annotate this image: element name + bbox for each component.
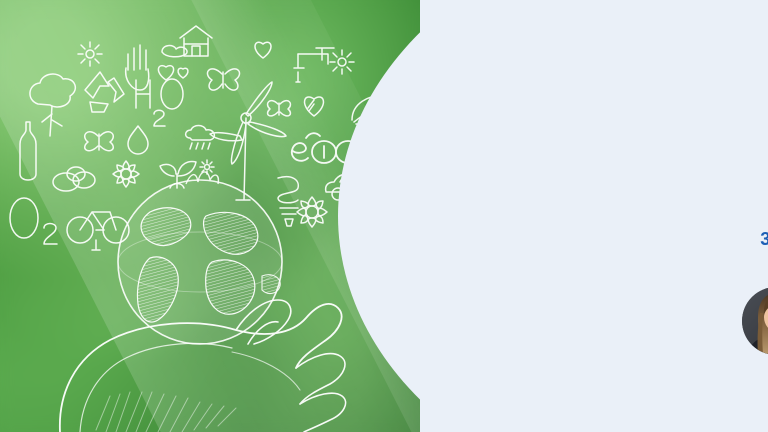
event-poster: EGİAD EGE GENÇ İŞ İNSANLARI DERNEĞİ 1990: [0, 0, 768, 432]
speaker-avatar: [742, 287, 768, 355]
event-datetime: 31 Ocak 2022 - 17.00 | Zoom - Online: [738, 228, 768, 250]
globe-doodle: [118, 172, 282, 344]
speaker-block: Sinem Toktay İZKA Yenilik ve Girişimcili…: [742, 284, 768, 358]
title-line-2: DÖNÜŞÜM PROGRAMI: [738, 179, 768, 202]
title-line-1: YEŞİL VE MAVİ: [738, 148, 768, 176]
panel-content: EGİAD EGE GENÇ İŞ İNSANLARI DERNEĞİ 1990: [338, 0, 768, 432]
speaker-portrait: [742, 287, 768, 355]
program-title: YEŞİL VE MAVİ DÖNÜŞÜM PROGRAMI: [738, 148, 768, 202]
